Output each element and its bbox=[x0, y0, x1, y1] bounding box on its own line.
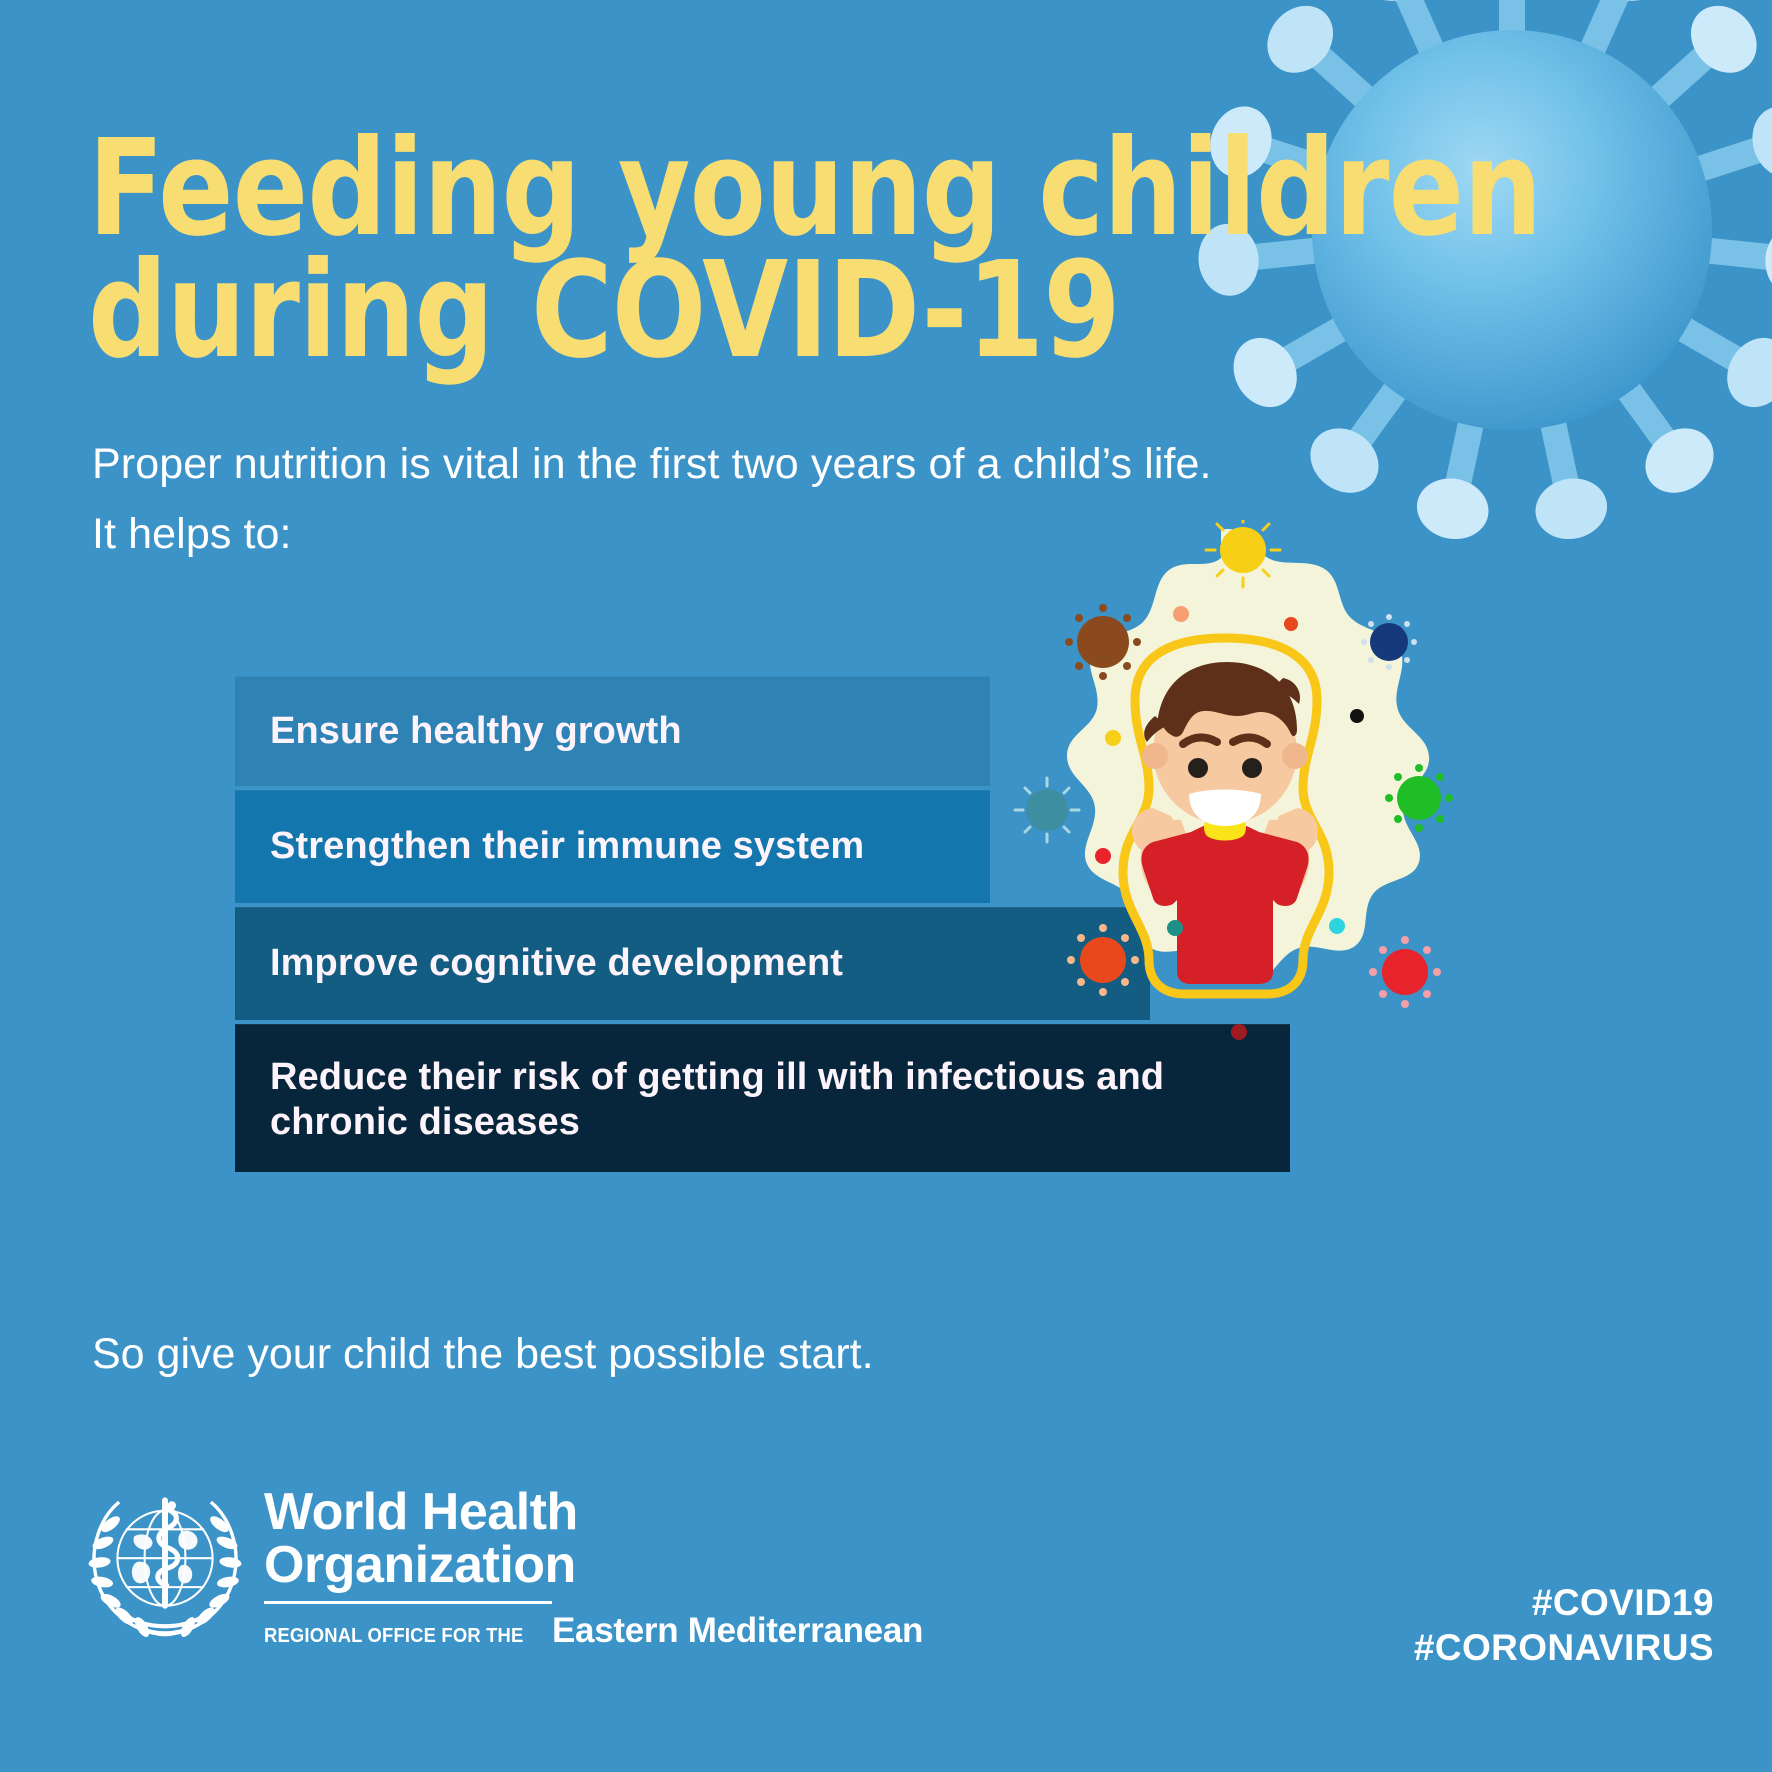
hashtags: #COVID19 #CORONAVIRUS bbox=[1414, 1580, 1714, 1670]
benefit-bar-2: Strengthen their immune system bbox=[235, 790, 990, 903]
intro-line-2: It helps to: bbox=[92, 510, 292, 559]
particle-orange-small bbox=[1284, 617, 1298, 631]
germ-brown bbox=[1065, 604, 1141, 680]
title-line-2: during COVID-19 bbox=[88, 250, 1288, 372]
title-line-1: Feeding young children bbox=[88, 128, 1288, 250]
hashtag-covid19: #COVID19 bbox=[1414, 1580, 1714, 1625]
who-logo: World Health Organization REGIONAL OFFIC… bbox=[80, 1480, 923, 1651]
page-title: Feeding young children during COVID-19 bbox=[88, 128, 1378, 373]
who-divider bbox=[264, 1601, 552, 1604]
benefit-bar-1: Ensure healthy growth bbox=[235, 676, 990, 786]
who-name-line-1: World Health bbox=[264, 1486, 923, 1539]
benefit-label-4: Reduce their risk of getting ill with in… bbox=[270, 1051, 1260, 1145]
benefit-label-3: Improve cognitive development bbox=[270, 941, 843, 986]
who-name-line-2: Organization bbox=[264, 1539, 923, 1592]
hashtag-coronavirus: #CORONAVIRUS bbox=[1414, 1625, 1714, 1670]
infographic-poster: Feeding young children during COVID-19 P… bbox=[0, 0, 1772, 1772]
who-emblem-icon bbox=[80, 1480, 250, 1650]
germ-green bbox=[1385, 764, 1453, 832]
benefit-label-1: Ensure healthy growth bbox=[270, 709, 682, 754]
particle-black bbox=[1350, 709, 1364, 723]
intro-line-1: Proper nutrition is vital in the first t… bbox=[92, 440, 1212, 489]
particle-cyan bbox=[1329, 918, 1345, 934]
benefit-label-2: Strengthen their immune system bbox=[270, 824, 864, 869]
closing-line: So give your child the best possible sta… bbox=[92, 1330, 874, 1379]
who-region-name: Eastern Mediterranean bbox=[552, 1611, 923, 1651]
who-region-prefix: REGIONAL OFFICE FOR THE bbox=[264, 1625, 523, 1648]
germ-yellow bbox=[1206, 520, 1280, 587]
benefit-bar-4: Reduce their risk of getting ill with in… bbox=[235, 1024, 1290, 1172]
germ-red bbox=[1369, 936, 1441, 1008]
benefit-bar-3: Improve cognitive development bbox=[235, 907, 1150, 1020]
germ-navy bbox=[1361, 614, 1417, 670]
benefits-list: Ensure healthy growth Strengthen their i… bbox=[235, 676, 1290, 1176]
particle-peach bbox=[1173, 606, 1189, 622]
